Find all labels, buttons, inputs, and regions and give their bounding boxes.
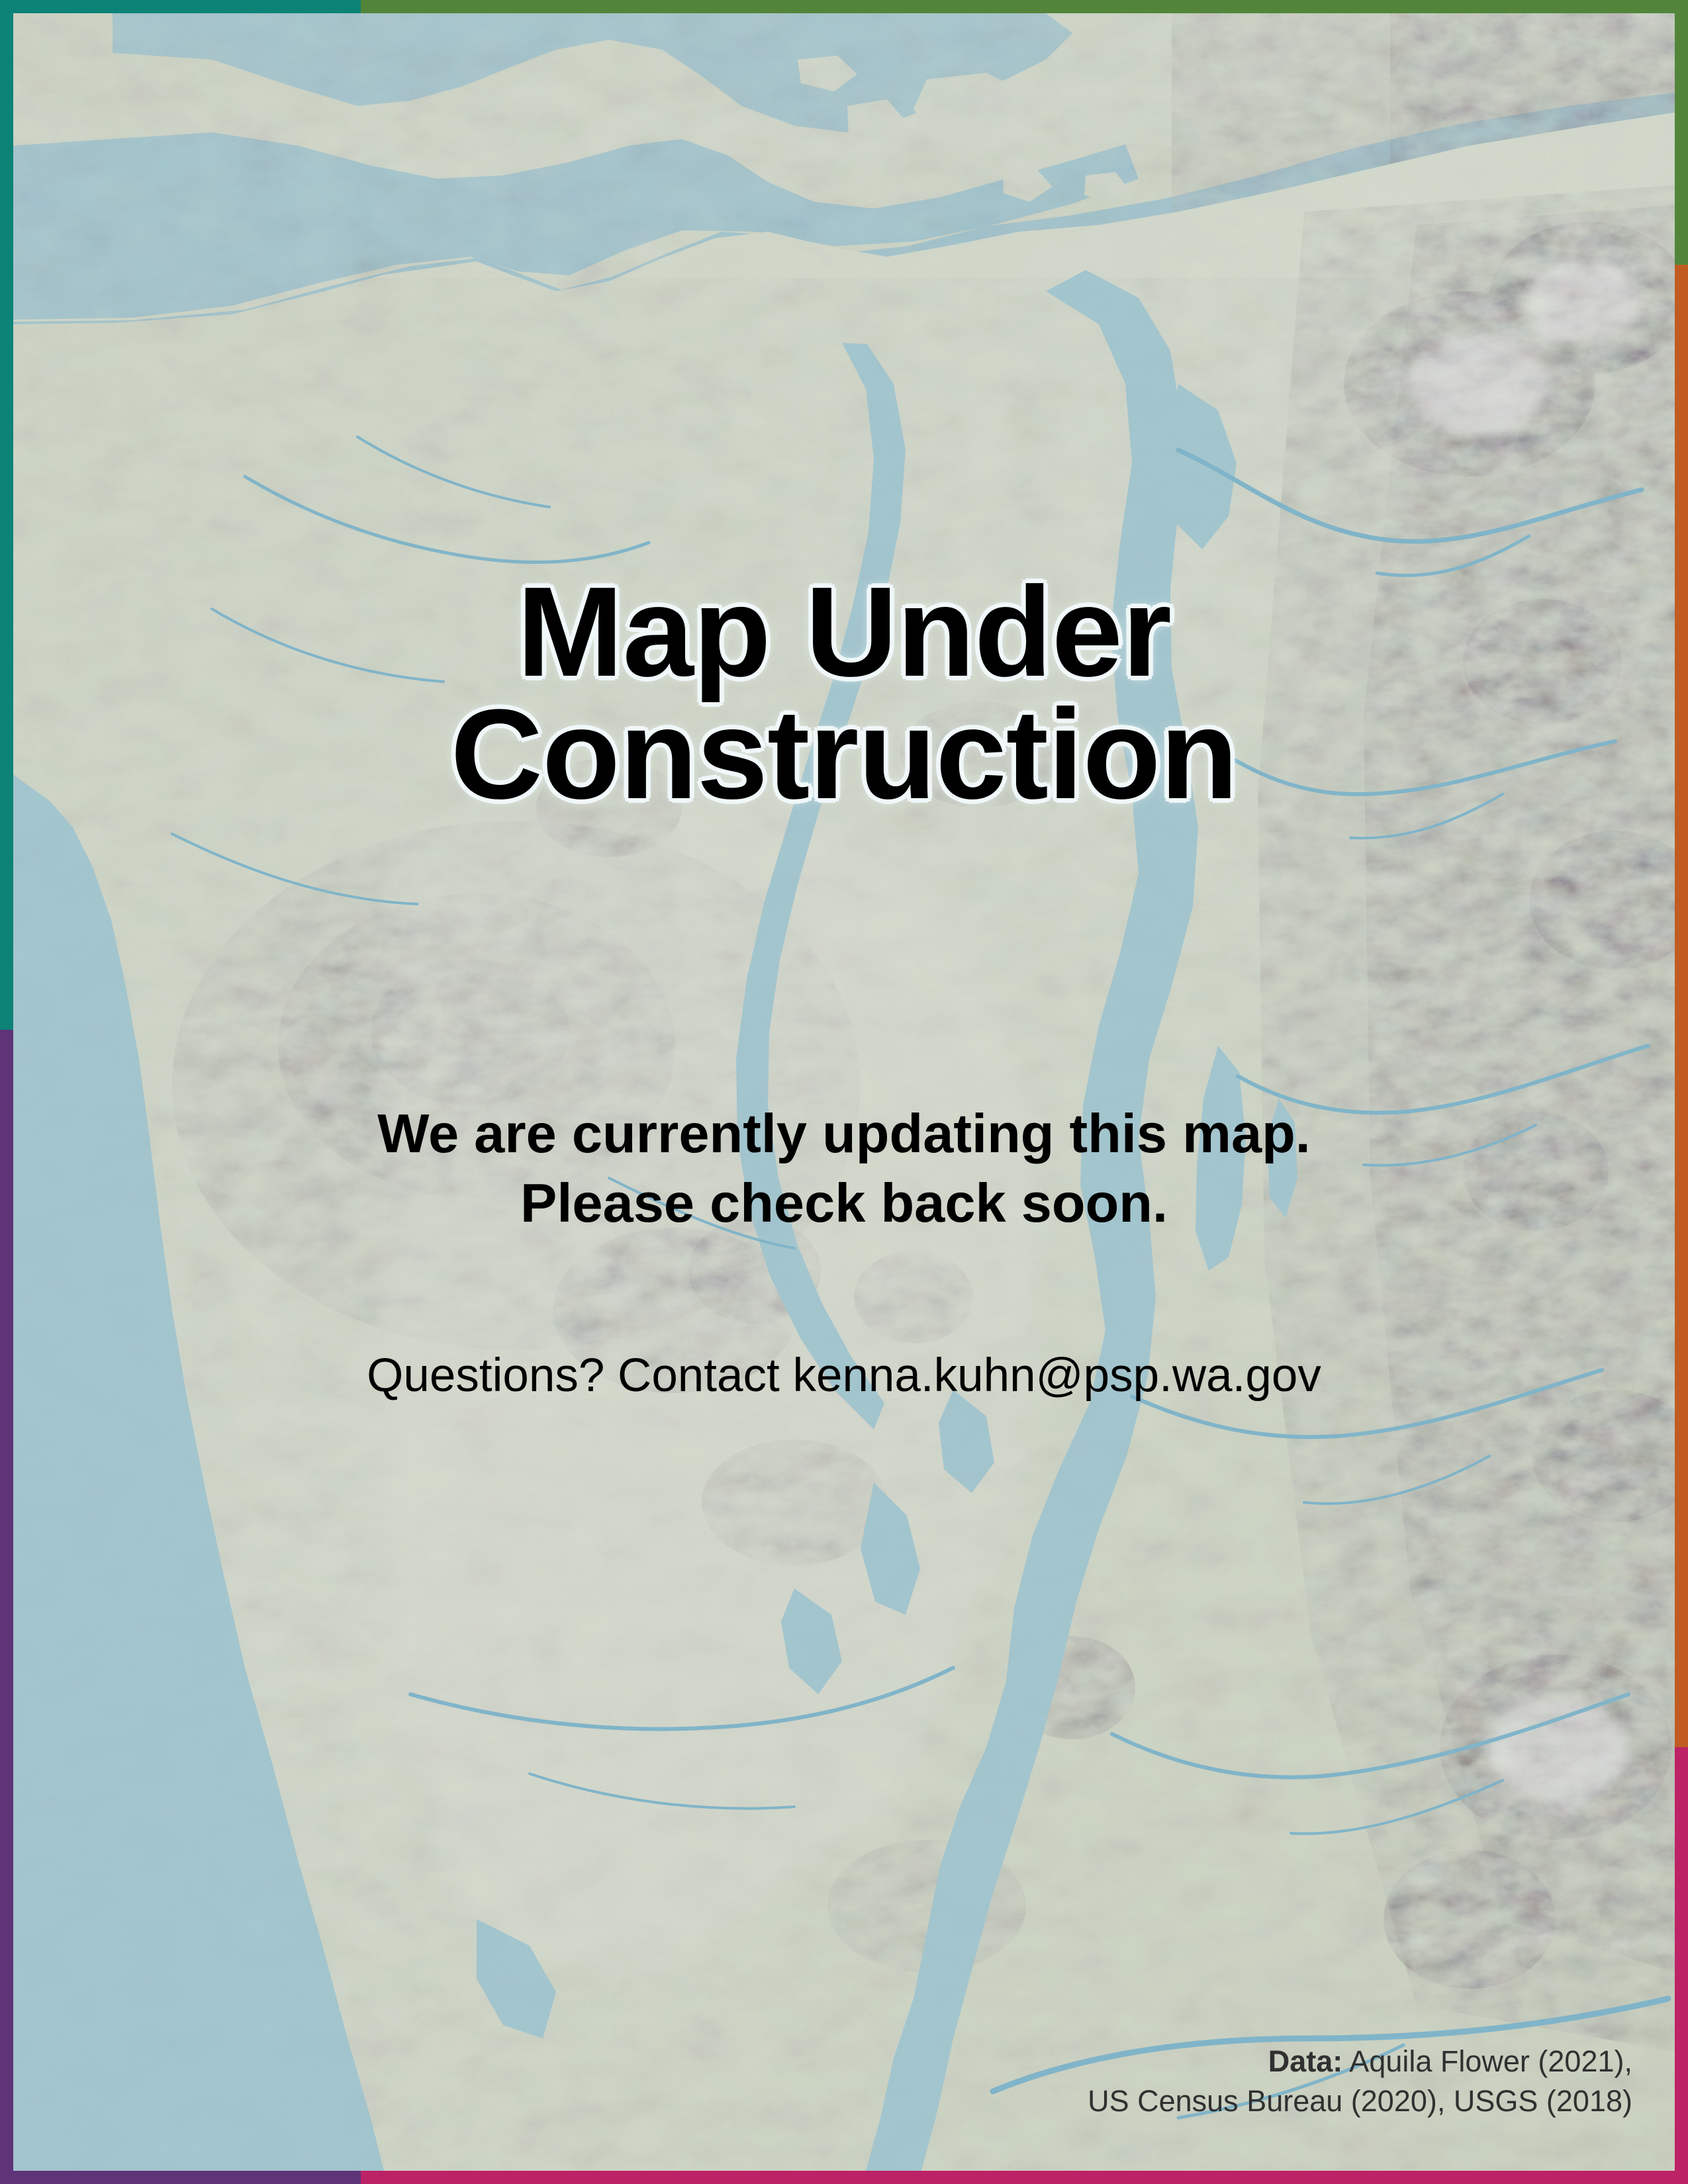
border-stripe-top-teal bbox=[0, 0, 361, 13]
map-graphic bbox=[13, 13, 1675, 2171]
border-stripe-right-magenta bbox=[1675, 1747, 1688, 2184]
border-stripe-right-green bbox=[1675, 0, 1688, 265]
border-stripe-left-purple bbox=[0, 1030, 13, 2184]
border-stripe-bottom-magenta bbox=[361, 2171, 1688, 2184]
border-stripe-left-teal bbox=[0, 0, 13, 1030]
border-stripe-right-orange bbox=[1675, 265, 1688, 1747]
map-basemap bbox=[13, 13, 1675, 2171]
border-stripe-bottom-purple bbox=[0, 2171, 361, 2184]
border-stripe-top-green bbox=[361, 0, 1688, 13]
map-under-construction-poster: Map Under Construction We are currently … bbox=[0, 0, 1688, 2184]
